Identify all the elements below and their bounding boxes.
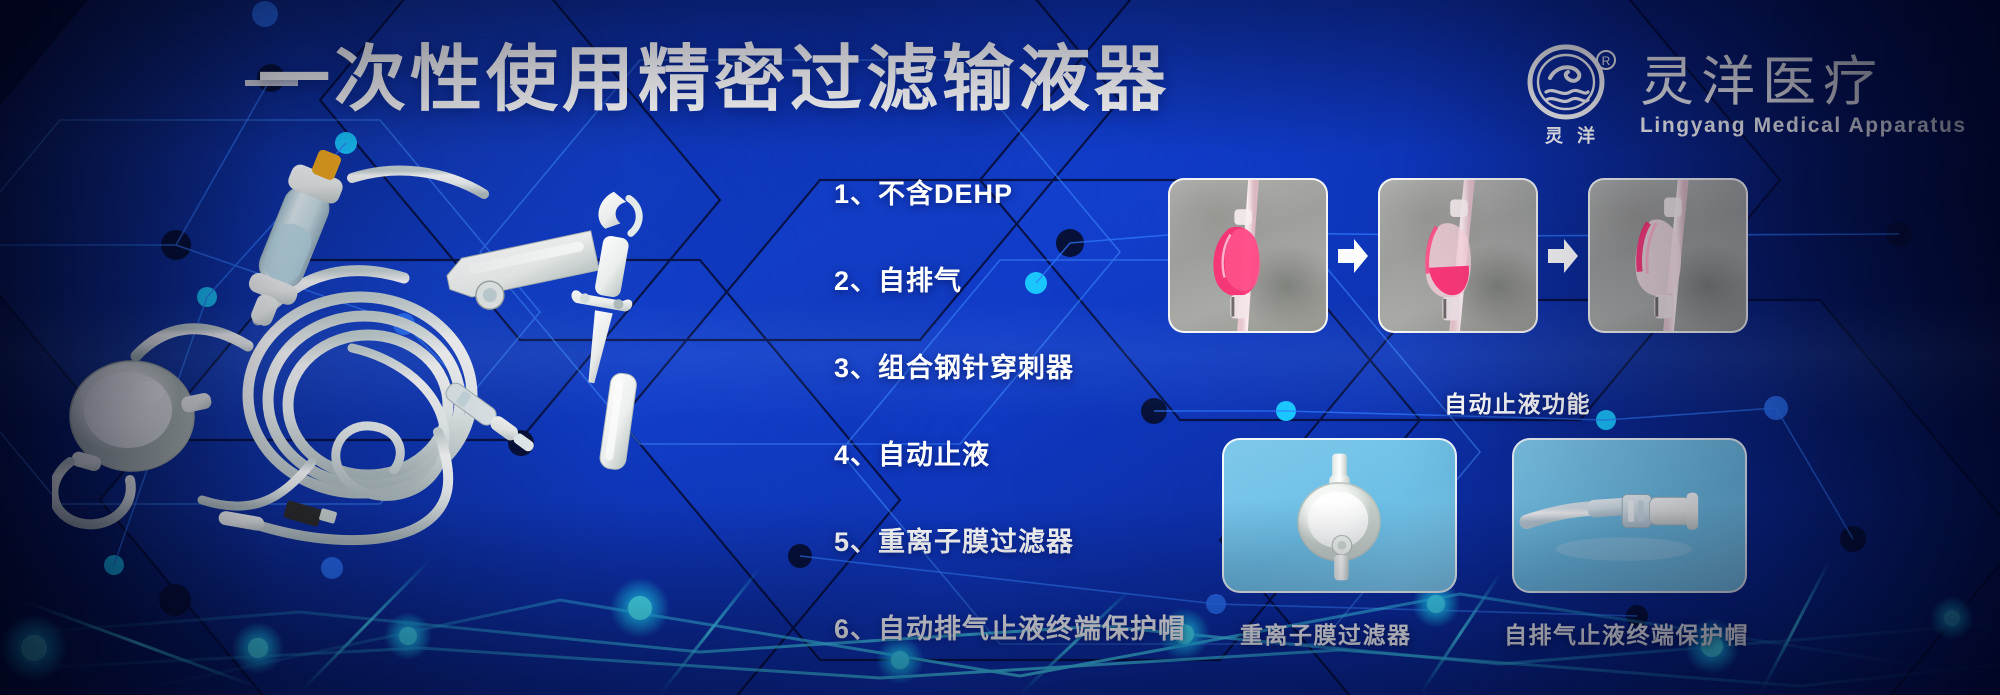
brand-logo: R 灵洋 灵洋医疗 Lingyang Medical Apparatus: [1522, 44, 1967, 148]
hero-product-image: [52, 150, 812, 550]
feature-list: 1、不含DEHP 2、自排气 3、组合钢针穿刺器 4、自动止液 5、重离子膜过滤…: [834, 172, 1164, 646]
feature-item-4: 4、自动止液: [834, 433, 1164, 472]
autostop-frame-empty: [1588, 178, 1748, 333]
autostop-frame-full: [1168, 178, 1328, 333]
feature-item-3: 3、组合钢针穿刺器: [834, 346, 1164, 385]
logo-name-cn: 灵洋医疗: [1640, 54, 1967, 110]
arrow-right-icon-2: [1538, 178, 1588, 333]
caption-autostop: 自动止液功能: [1444, 385, 1591, 419]
caption-heavy-ion-filter: 重离子膜过滤器: [1240, 616, 1412, 650]
logo-emblem-subtext: 灵洋: [1522, 122, 1618, 148]
feature-item-1: 1、不含DEHP: [834, 172, 1164, 211]
feature-item-2: 2、自排气: [834, 259, 1164, 298]
product-banner: 一次性使用精密过滤输液器 R 灵洋 灵洋医疗 Lingyang Medical …: [0, 0, 2000, 695]
autostop-frame-partial: [1378, 178, 1538, 333]
logo-emblem-icon: R 灵洋: [1522, 44, 1618, 148]
svg-text:R: R: [1602, 54, 1611, 68]
logo-wordmark: 灵洋医疗 Lingyang Medical Apparatus: [1640, 54, 1967, 137]
arrow-right-icon-1: [1328, 178, 1378, 333]
feature-item-6: 6、自动排气止液终端保护帽: [834, 607, 1164, 646]
card-terminal-protective-cap: [1512, 438, 1747, 593]
autostop-sequence: [1168, 178, 1748, 333]
caption-terminal-protective-cap: 自排气止液终端保护帽: [1504, 616, 1749, 650]
feature-item-5: 5、重离子膜过滤器: [834, 520, 1164, 559]
card-heavy-ion-filter: [1222, 438, 1457, 593]
logo-name-en: Lingyang Medical Apparatus: [1640, 114, 1967, 138]
banner-title: 一次性使用精密过滤输液器: [258, 44, 1170, 116]
